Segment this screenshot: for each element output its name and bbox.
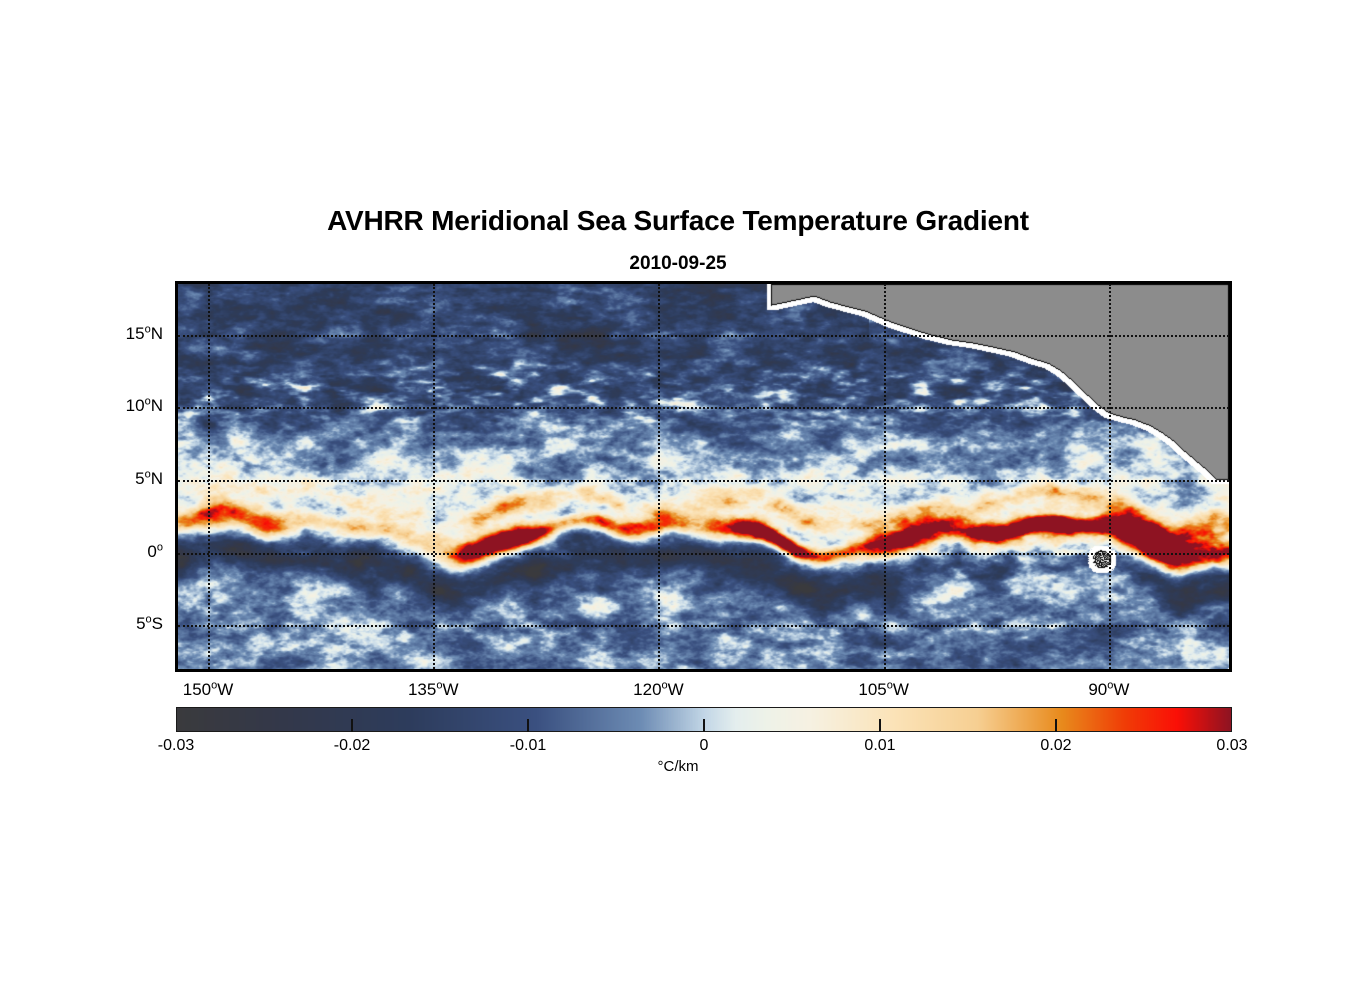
tick-lon-top — [431, 281, 435, 284]
colorbar-tick-label: 0.02 — [996, 737, 1116, 755]
tick-lat — [175, 551, 178, 555]
tick-lat — [175, 333, 178, 337]
tick-lon-top — [1107, 281, 1111, 284]
tick-lon-top — [882, 281, 886, 284]
figure-title: AVHRR Meridional Sea Surface Temperature… — [0, 205, 1356, 237]
colorbar-tick — [1055, 719, 1057, 732]
tick-lat-right — [1229, 478, 1232, 482]
tick-lon — [1107, 669, 1111, 672]
tick-lat-right — [1229, 333, 1232, 337]
sst-gradient-heatmap — [178, 284, 1229, 669]
y-tick-label: 5oN — [43, 469, 163, 489]
colorbar-tick — [351, 719, 353, 732]
colorbar-tick-label: -0.02 — [292, 737, 412, 755]
x-tick-label: 90oW — [1039, 680, 1179, 700]
colorbar-tick-label: 0.01 — [820, 737, 940, 755]
tick-lon-top — [206, 281, 210, 284]
tick-lon-top — [656, 281, 660, 284]
tick-lon — [206, 669, 210, 672]
y-tick-label: 0o — [43, 542, 163, 562]
x-tick-label: 105oW — [814, 680, 954, 700]
tick-lon — [882, 669, 886, 672]
x-tick-label: 150oW — [138, 680, 278, 700]
x-tick-label: 135oW — [363, 680, 503, 700]
tick-lat-right — [1229, 405, 1232, 409]
x-tick-label: 120oW — [588, 680, 728, 700]
tick-lat-right — [1229, 551, 1232, 555]
colorbar-tick — [527, 719, 529, 732]
colorbar-tick-label: -0.01 — [468, 737, 588, 755]
colorbar-tick — [879, 719, 881, 732]
colorbar-tick — [703, 719, 705, 732]
y-tick-label: 15oN — [43, 324, 163, 344]
colorbar-tick-label: 0.03 — [1172, 737, 1292, 755]
y-tick-label: 10oN — [43, 396, 163, 416]
tick-lat — [175, 405, 178, 409]
tick-lon — [656, 669, 660, 672]
map-axes — [175, 281, 1232, 672]
gradient-field-canvas — [178, 284, 1229, 669]
colorbar-tick-label: -0.03 — [116, 737, 236, 755]
tick-lon — [431, 669, 435, 672]
colorbar-tick-label: 0 — [644, 737, 764, 755]
colorbar-units-label: °C/km — [0, 758, 1356, 775]
y-tick-label: 5oS — [43, 614, 163, 634]
tick-lat — [175, 623, 178, 627]
tick-lat-right — [1229, 623, 1232, 627]
figure-subtitle: 2010-09-25 — [0, 253, 1356, 275]
figure-canvas: AVHRR Meridional Sea Surface Temperature… — [0, 0, 1356, 1000]
tick-lat — [175, 478, 178, 482]
